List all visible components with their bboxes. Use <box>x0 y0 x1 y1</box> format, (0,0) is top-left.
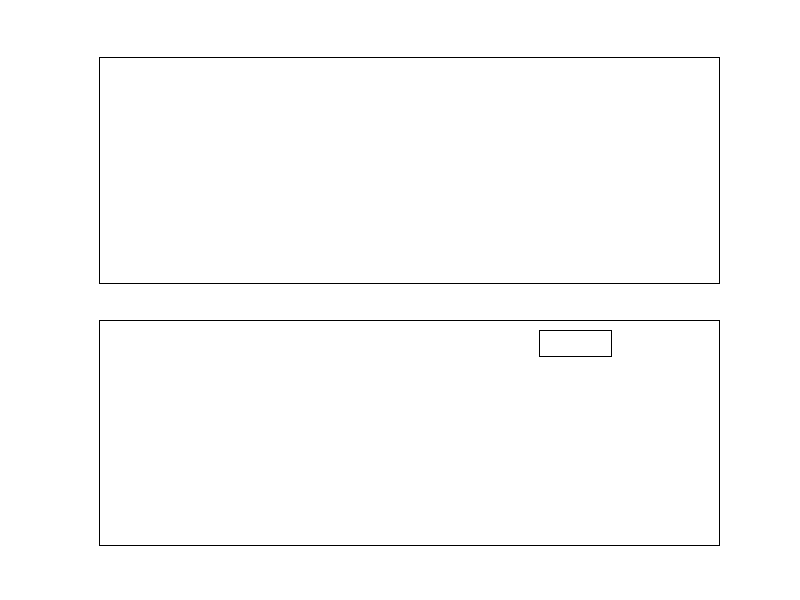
cumulative-plot-area <box>100 321 721 547</box>
histogram-plot-area <box>100 58 721 285</box>
top-axes-histogram <box>99 57 720 284</box>
legend[interactable] <box>539 330 612 357</box>
mag-limit-line-icon <box>549 336 589 350</box>
matplotlib-figure <box>0 0 800 600</box>
bottom-axes-cumulative <box>99 320 720 546</box>
